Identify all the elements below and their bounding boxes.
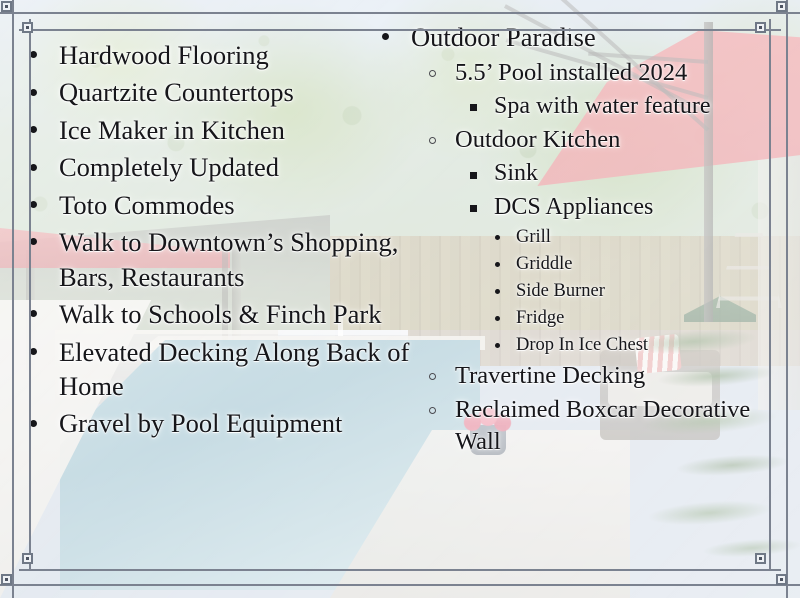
selection-frame-right bbox=[786, 0, 788, 598]
list-item-label: Griddle bbox=[516, 252, 782, 277]
list-item[interactable]: Gravel by Pool Equipment bbox=[30, 406, 420, 440]
selection-frame-left bbox=[12, 0, 14, 598]
bullet-small-circle-icon bbox=[495, 262, 500, 267]
bullet-small-circle-icon bbox=[495, 343, 500, 348]
list-item[interactable]: Sink bbox=[470, 158, 782, 189]
bullet-hollow-circle-icon bbox=[429, 373, 436, 380]
selection-frame-bottom bbox=[0, 584, 800, 586]
inner-frame-bottom bbox=[19, 569, 781, 571]
left-bullet-list: Hardwood Flooring Quartzite Countertops … bbox=[30, 38, 420, 441]
list-item[interactable]: Hardwood Flooring bbox=[30, 38, 420, 72]
list-item[interactable]: Griddle bbox=[495, 252, 782, 277]
right-bullet-list: Outdoor Paradise 5.5’ Pool installed 202… bbox=[382, 20, 782, 458]
resize-handle-bottom-right-inner[interactable] bbox=[755, 553, 766, 564]
bullet-filled-circle-icon bbox=[30, 201, 37, 208]
list-item-label: Walk to Schools & Finch Park bbox=[59, 297, 420, 331]
resize-handle-bottom-left-inner[interactable] bbox=[22, 553, 33, 564]
list-item[interactable]: Walk to Schools & Finch Park bbox=[30, 297, 420, 331]
list-item-label: Reclaimed Boxcar Decorative Wall bbox=[455, 394, 782, 458]
list-item[interactable]: Elevated Decking Along Back of Home bbox=[30, 335, 420, 404]
bullet-filled-circle-icon bbox=[30, 89, 37, 96]
list-item[interactable]: Side Burner bbox=[495, 279, 782, 304]
resize-handle-top-left-inner[interactable] bbox=[22, 22, 33, 33]
bullet-filled-circle-icon bbox=[30, 420, 37, 427]
list-item[interactable]: Fridge bbox=[495, 306, 782, 331]
inner-frame-right bbox=[769, 19, 771, 569]
list-item[interactable]: Quartzite Countertops bbox=[30, 75, 420, 109]
bullet-hollow-circle-icon bbox=[429, 70, 436, 77]
list-item[interactable]: 5.5’ Pool installed 2024 bbox=[429, 57, 782, 89]
bullet-filled-square-icon bbox=[470, 205, 477, 212]
inner-frame-top bbox=[19, 29, 781, 31]
left-feature-list: Hardwood Flooring Quartzite Countertops … bbox=[30, 38, 420, 444]
bullet-small-circle-icon bbox=[495, 316, 500, 321]
list-item[interactable]: Outdoor Paradise bbox=[382, 20, 782, 54]
inner-frame-left bbox=[29, 19, 31, 569]
bullet-filled-circle-icon bbox=[30, 310, 37, 317]
bullet-filled-circle-icon bbox=[30, 348, 37, 355]
list-item-label: Spa with water feature bbox=[494, 91, 782, 122]
list-item[interactable]: Outdoor Kitchen bbox=[429, 124, 782, 156]
resize-handle-top-right-outer[interactable] bbox=[776, 1, 787, 12]
list-item-label: Ice Maker in Kitchen bbox=[59, 113, 420, 147]
list-item-label: Side Burner bbox=[516, 279, 782, 304]
bullet-filled-circle-icon bbox=[30, 164, 37, 171]
bullet-hollow-circle-icon bbox=[429, 407, 436, 414]
list-item[interactable]: DCS Appliances bbox=[470, 192, 782, 223]
bullet-filled-circle-icon bbox=[30, 51, 37, 58]
bullet-small-circle-icon bbox=[495, 289, 500, 294]
list-item-label: Quartzite Countertops bbox=[59, 75, 420, 109]
slide-canvas[interactable]: Hardwood Flooring Quartzite Countertops … bbox=[0, 0, 800, 598]
list-item-label: Gravel by Pool Equipment bbox=[59, 406, 420, 440]
list-item[interactable]: Walk to Downtown’s Shopping, Bars, Resta… bbox=[30, 225, 420, 294]
resize-handle-bottom-left-outer[interactable] bbox=[1, 574, 12, 585]
list-item-label: 5.5’ Pool installed 2024 bbox=[455, 57, 782, 89]
list-item-label: DCS Appliances bbox=[494, 192, 782, 223]
list-item[interactable]: Drop In Ice Chest bbox=[495, 333, 782, 358]
list-item[interactable]: Reclaimed Boxcar Decorative Wall bbox=[429, 394, 782, 458]
list-item-label: Travertine Decking bbox=[455, 360, 782, 392]
list-item-label: Fridge bbox=[516, 306, 782, 331]
list-item-label: Elevated Decking Along Back of Home bbox=[59, 335, 420, 404]
list-item[interactable]: Ice Maker in Kitchen bbox=[30, 113, 420, 147]
list-item-label: Drop In Ice Chest bbox=[516, 333, 782, 358]
list-item-label: Toto Commodes bbox=[59, 188, 420, 222]
list-item-label: Outdoor Paradise bbox=[411, 20, 782, 54]
list-item[interactable]: Completely Updated bbox=[30, 150, 420, 184]
resize-handle-bottom-right-outer[interactable] bbox=[776, 574, 787, 585]
resize-handle-top-left-outer[interactable] bbox=[1, 1, 12, 12]
list-item[interactable]: Toto Commodes bbox=[30, 188, 420, 222]
list-item-label: Sink bbox=[494, 158, 782, 189]
list-item-label: Walk to Downtown’s Shopping, Bars, Resta… bbox=[59, 225, 420, 294]
selection-frame-top bbox=[0, 12, 800, 14]
list-item-label: Grill bbox=[516, 225, 782, 250]
list-item-label: Hardwood Flooring bbox=[59, 38, 420, 72]
bullet-filled-square-icon bbox=[470, 172, 477, 179]
right-feature-list: Outdoor Paradise 5.5’ Pool installed 202… bbox=[382, 20, 782, 460]
list-item[interactable]: Grill bbox=[495, 225, 782, 250]
bullet-hollow-circle-icon bbox=[429, 137, 436, 144]
list-item[interactable]: Travertine Decking bbox=[429, 360, 782, 392]
bullet-filled-circle-icon bbox=[382, 33, 389, 40]
list-item-label: Completely Updated bbox=[59, 150, 420, 184]
bullet-filled-circle-icon bbox=[30, 238, 37, 245]
list-item[interactable]: Spa with water feature bbox=[470, 91, 782, 122]
bullet-filled-square-icon bbox=[470, 104, 477, 111]
resize-handle-top-right-inner[interactable] bbox=[755, 22, 766, 33]
bullet-small-circle-icon bbox=[495, 235, 500, 240]
list-item-label: Outdoor Kitchen bbox=[455, 124, 782, 156]
bullet-filled-circle-icon bbox=[30, 126, 37, 133]
